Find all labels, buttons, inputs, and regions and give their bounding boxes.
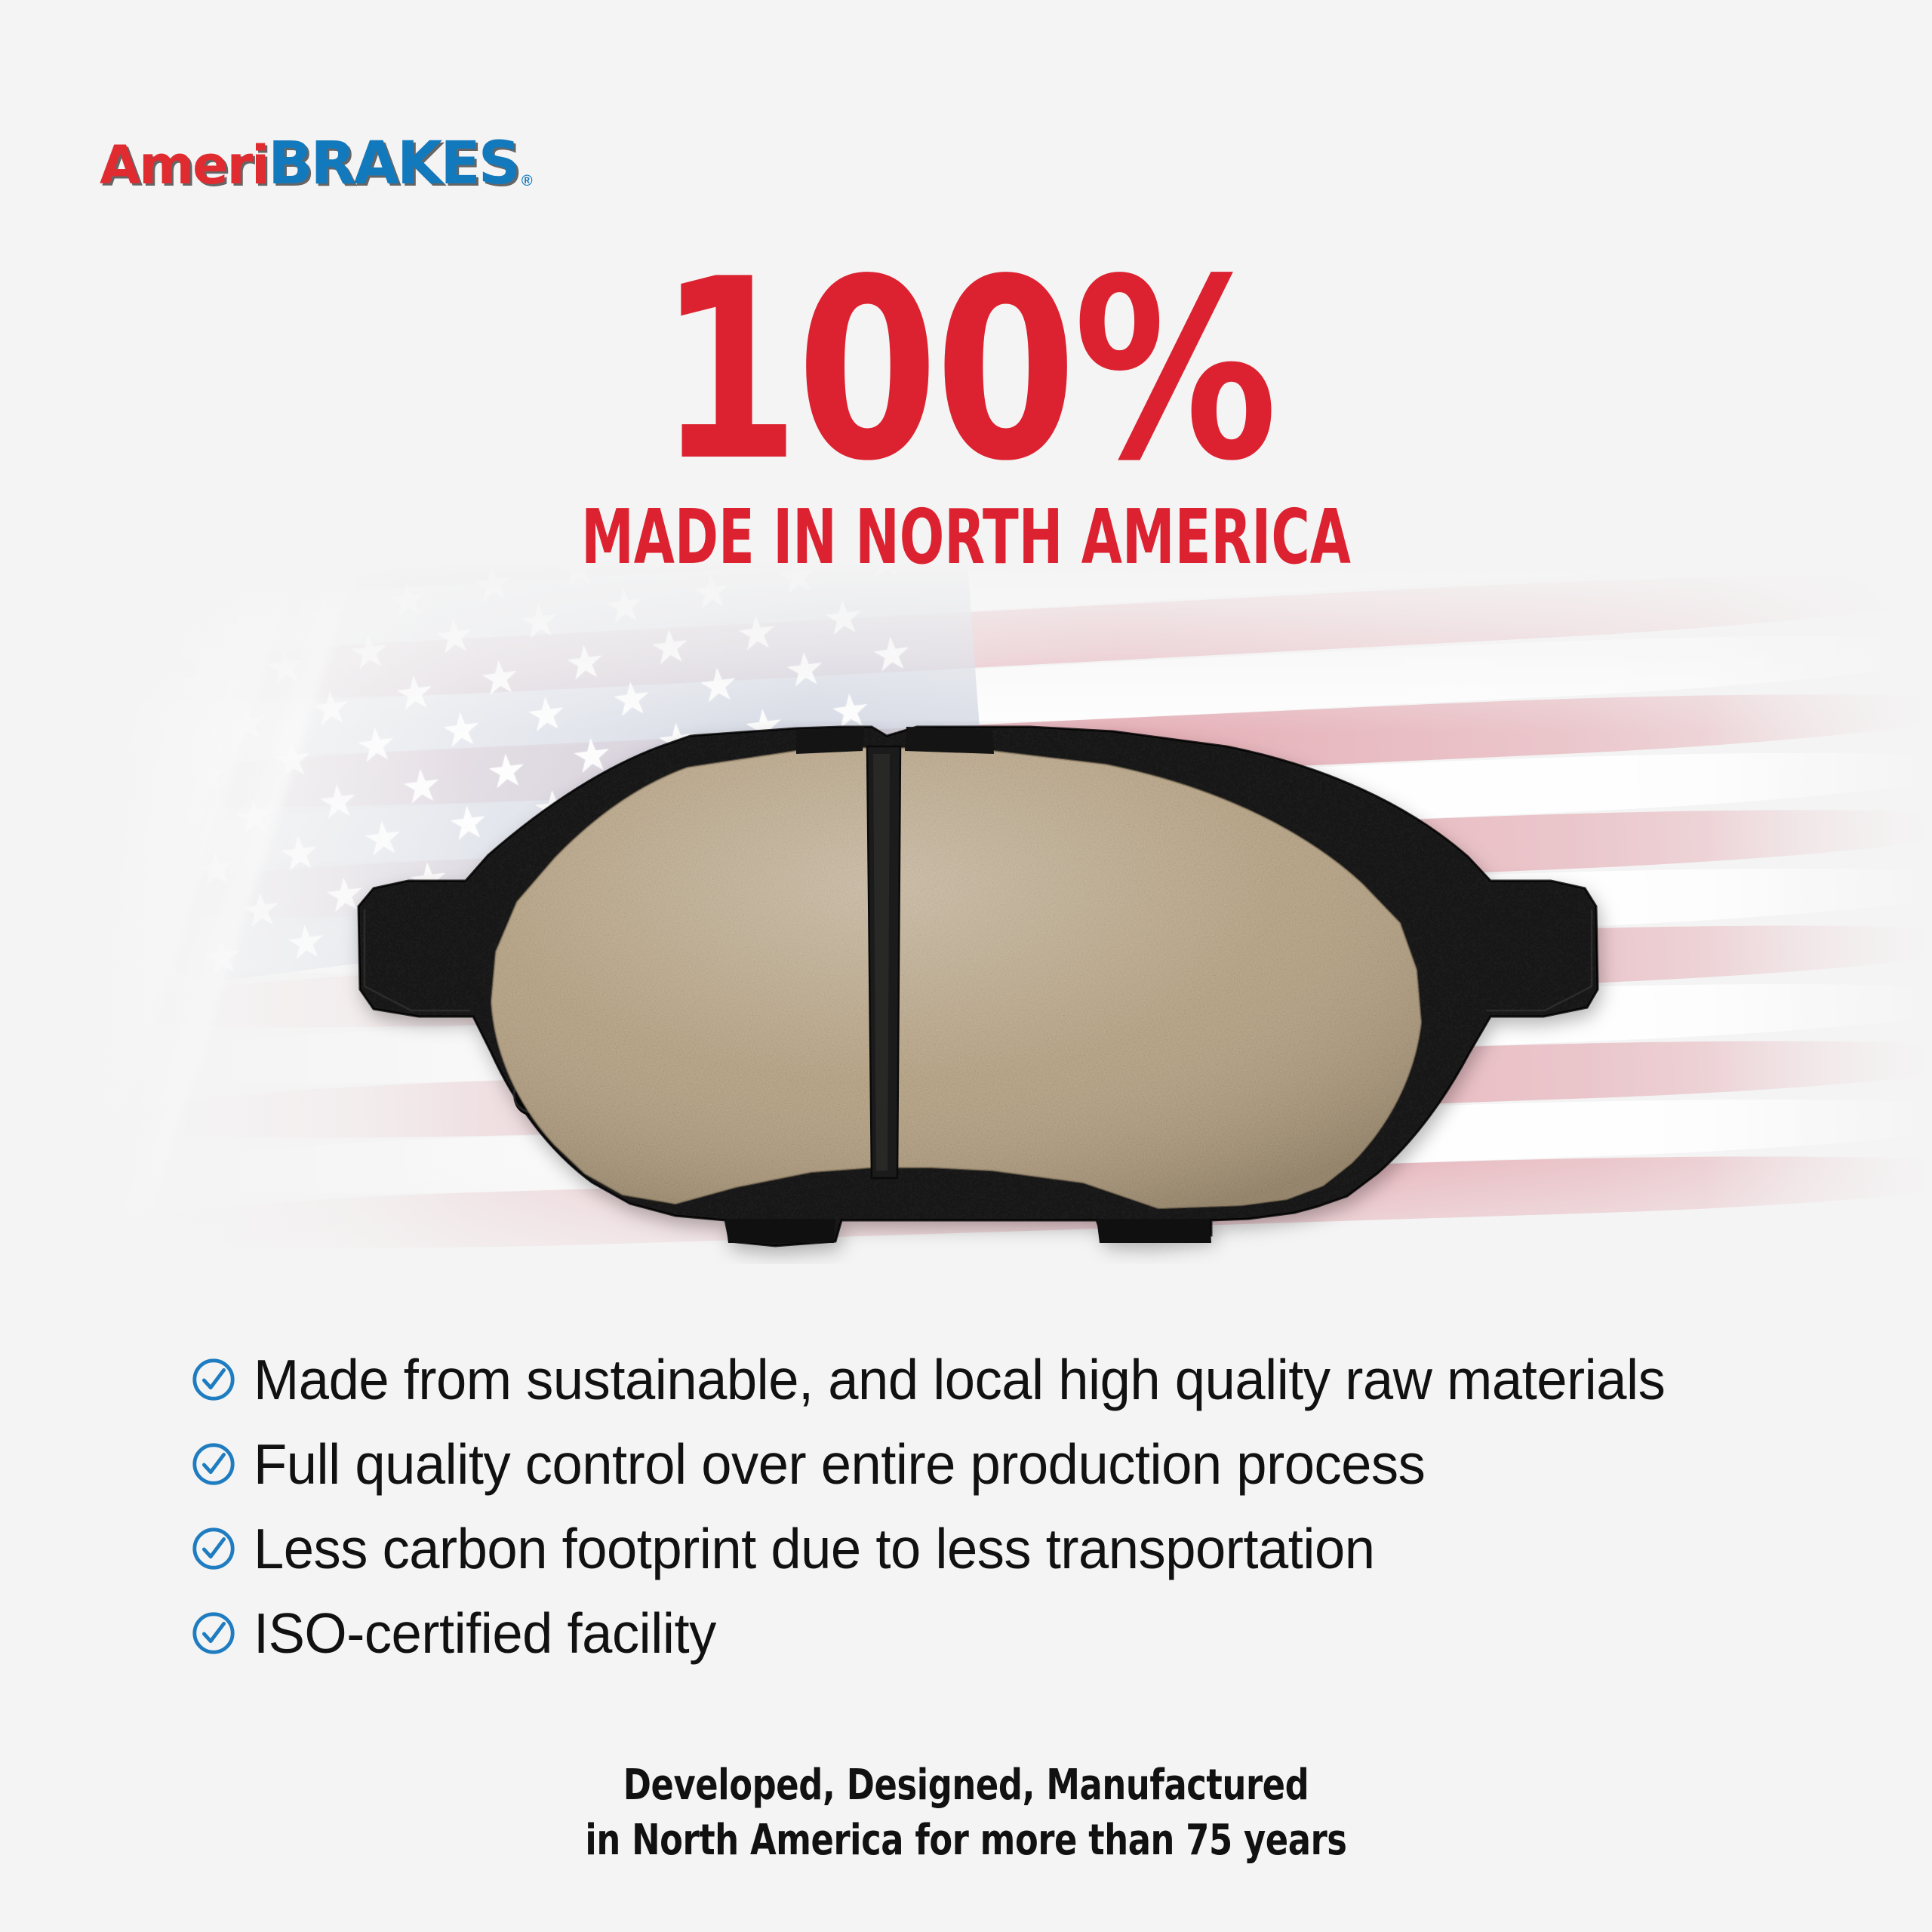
flag-fade-right (1706, 558, 1932, 1358)
list-item: Made from sustainable, and local high qu… (190, 1337, 1775, 1422)
check-circle-icon (190, 1356, 237, 1403)
headline-subtitle: MADE IN NORTH AMERICA (290, 500, 1642, 575)
feature-label: ISO-certified facility (254, 1604, 716, 1663)
flag-fold (0, 558, 297, 1358)
brake-pad-center-slot (867, 746, 900, 1178)
check-circle-icon (190, 1610, 237, 1657)
flag-fade-top (0, 558, 1932, 732)
poster-canvas: ★ ★ ★ ★ ★ ★ ★ ★ ★ ★ ★ ★ ★ ★ ★ ★ ★ (0, 0, 1932, 1932)
flag-fold (0, 558, 272, 1358)
brake-pad-bottom-tabs (725, 1219, 1211, 1243)
list-item: Full quality control over entire product… (190, 1422, 1775, 1506)
list-item: Less carbon footprint due to less transp… (190, 1506, 1775, 1591)
feature-list: Made from sustainable, and local high qu… (190, 1337, 1775, 1675)
feature-label: Made from sustainable, and local high qu… (254, 1350, 1665, 1410)
registered-trademark-icon: ® (521, 174, 533, 193)
footer-line-1: Developed, Designed, Manufactured (193, 1758, 1739, 1814)
footer-line-2: in North America for more than 75 years (193, 1814, 1739, 1869)
logo-text-brakes: BRAKES (268, 134, 518, 193)
headline-block: 100% MADE IN NORTH AMERICA (0, 257, 1932, 575)
brand-logo[interactable]: Ameri BRAKES ® (100, 134, 533, 193)
feature-label: Full quality control over entire product… (254, 1435, 1425, 1494)
headline-percent: 100% (174, 257, 1758, 486)
brake-pad-image (268, 721, 1679, 1264)
check-circle-icon (190, 1525, 237, 1572)
check-circle-icon (190, 1441, 237, 1487)
feature-label: Less carbon footprint due to less transp… (254, 1519, 1375, 1579)
logo-text-ameri: Ameri (100, 139, 268, 192)
list-item: ISO-certified facility (190, 1591, 1775, 1675)
footer-block: Developed, Designed, Manufactured in Nor… (0, 1758, 1932, 1869)
flag-stripe (52, 559, 1932, 716)
